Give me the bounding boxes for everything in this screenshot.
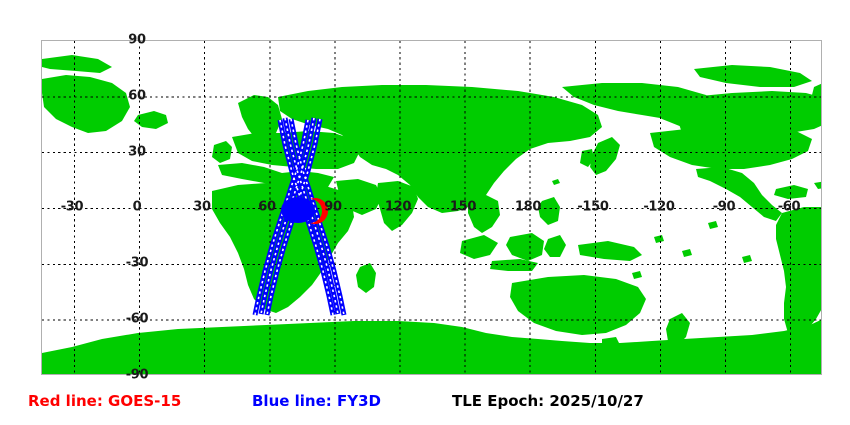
legend-tle-epoch: TLE Epoch: 2025/10/27: [452, 394, 644, 409]
lon-tick-label-0: 0: [133, 201, 142, 214]
lat-tick-label--30: -30: [126, 257, 149, 270]
legend-blue-line-fy3d: Blue line: FY3D: [252, 394, 381, 409]
lon-tick-label-90: 90: [324, 201, 342, 214]
legend-red-line-goes15: Red line: GOES-15: [28, 394, 181, 409]
lat-tick-label-60: 60: [128, 90, 146, 103]
lon-tick-label--120: -120: [643, 201, 674, 214]
lat-tick-label--60: -60: [126, 313, 149, 326]
lon-tick-label--90: -90: [713, 201, 736, 214]
lat-tick-label-90: 90: [128, 34, 146, 47]
lon-tick-label-150: 150: [450, 201, 476, 214]
satellite-ground-track-figure: -30 0 30 60 90 120 150 180 -150 -120 -90…: [0, 0, 850, 425]
world-map-plot: [41, 40, 822, 375]
lon-tick-label--30: -30: [61, 201, 84, 214]
lon-tick-label--60: -60: [778, 201, 801, 214]
lon-tick-label-120: 120: [385, 201, 411, 214]
lon-tick-label-180: 180: [515, 201, 541, 214]
legend-footer: Red line: GOES-15 Blue line: FY3D TLE Ep…: [0, 388, 850, 422]
lon-tick-label-30: 30: [193, 201, 211, 214]
lat-tick-label--90: -90: [126, 369, 149, 382]
world-map-svg: [42, 41, 822, 375]
lat-tick-label-30: 30: [128, 146, 146, 159]
fy3d-crossing-node: [281, 197, 315, 223]
lon-tick-label--150: -150: [577, 201, 608, 214]
lon-tick-label-60: 60: [258, 201, 276, 214]
